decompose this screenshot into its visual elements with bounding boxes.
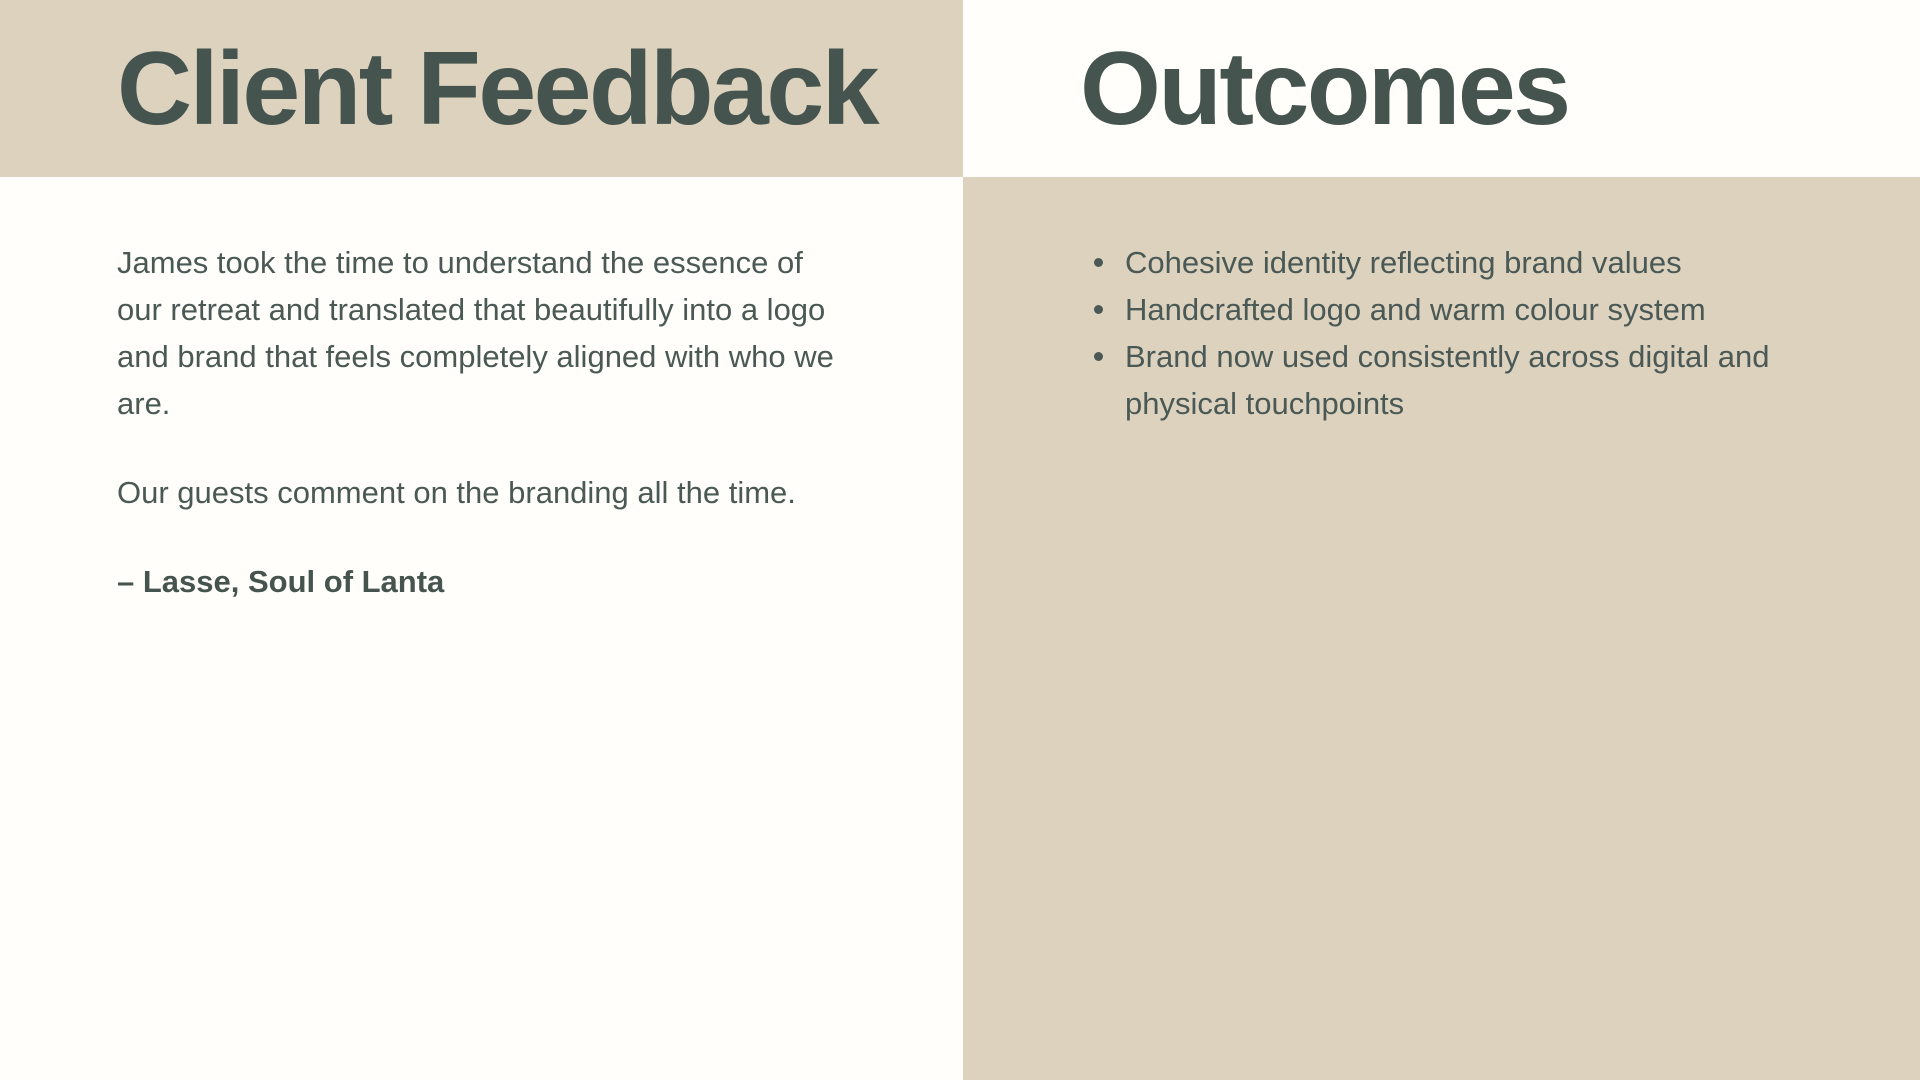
outcomes-list: Cohesive identity reflecting brand value… (1080, 239, 1780, 427)
left-column-title: Client Feedback (0, 37, 877, 141)
bullet-dot-icon (1094, 305, 1103, 314)
left-header-band: Client Feedback (0, 0, 963, 177)
list-item: Cohesive identity reflecting brand value… (1080, 239, 1780, 286)
left-body-panel: James took the time to understand the es… (0, 177, 963, 1080)
bullet-dot-icon (1094, 258, 1103, 267)
bullet-dot-icon (1094, 352, 1103, 361)
list-item-label: Handcrafted logo and warm colour system (1125, 292, 1706, 327)
list-item: Brand now used consistently across digit… (1080, 333, 1780, 427)
testimonial-paragraph-1: James took the time to understand the es… (117, 239, 846, 427)
left-column: Client Feedback James took the time to u… (0, 0, 963, 1080)
right-header-band: Outcomes (963, 0, 1920, 177)
list-item-label: Cohesive identity reflecting brand value… (1125, 245, 1682, 280)
right-column-title: Outcomes (963, 37, 1569, 141)
right-body-panel: Cohesive identity reflecting brand value… (963, 177, 1920, 1080)
right-column: Outcomes Cohesive identity reflecting br… (963, 0, 1920, 1080)
list-item: Handcrafted logo and warm colour system (1080, 286, 1780, 333)
testimonial-attribution: – Lasse, Soul of Lanta (117, 558, 846, 605)
list-item-label: Brand now used consistently across digit… (1125, 339, 1769, 421)
slide-root: Client Feedback James took the time to u… (0, 0, 1920, 1080)
testimonial-paragraph-2: Our guests comment on the branding all t… (117, 469, 846, 516)
